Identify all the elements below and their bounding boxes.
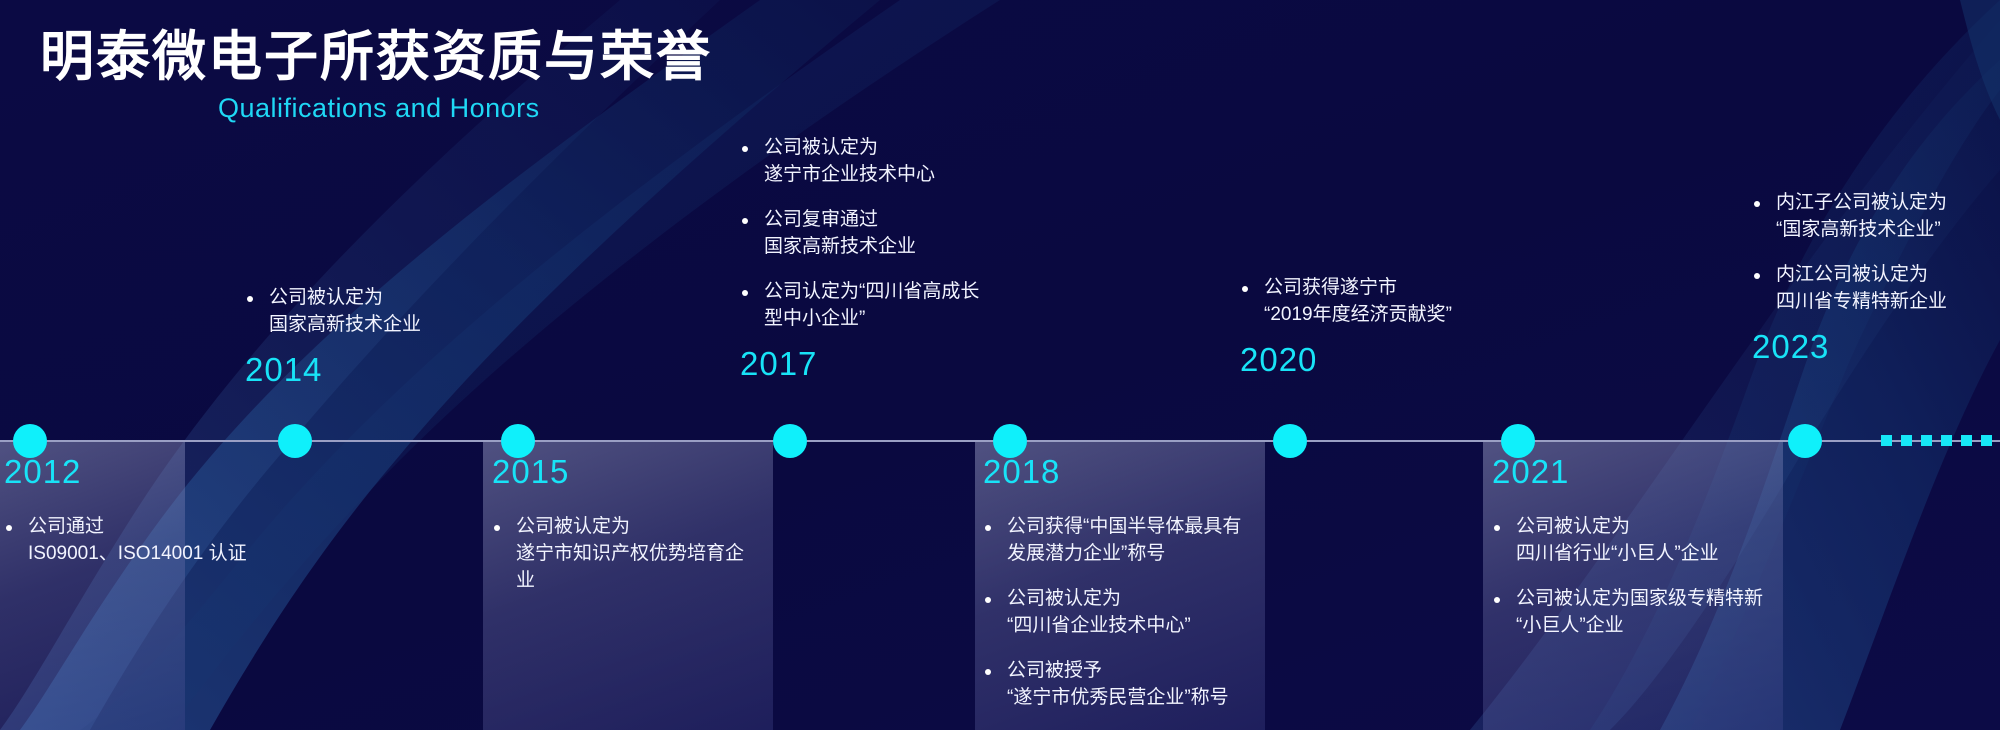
- year-label-2014: 2014: [245, 353, 575, 386]
- timeline-slide: 明泰微电子所获资质与荣誉 Qualifications and Honors 2…: [0, 0, 2000, 730]
- axis-dash: [1921, 435, 1932, 446]
- bullet-list-2014: 公司被认定为 国家高新技术企业: [245, 285, 575, 339]
- bullet-list-2020: 公司获得遂宁市 “2019年度经济贡献奖”: [1240, 275, 1570, 329]
- timeline-entry-2020: 公司获得遂宁市 “2019年度经济贡献奖”2020: [1240, 275, 1570, 376]
- year-label-2023: 2023: [1752, 330, 2000, 363]
- bullet-item: 公司获得“中国半导体最具有 发展潜力企业”称号: [983, 514, 1283, 568]
- year-label-2021: 2021: [1492, 455, 1822, 488]
- timeline-axis-end-dashes: [1881, 435, 1992, 446]
- bullet-item: 公司通过 IS09001、ISO14001 认证: [4, 514, 334, 568]
- timeline-entry-2021: 2021公司被认定为 四川省行业“小巨人”企业公司被认定为国家级专精特新 “小巨…: [1492, 455, 1822, 640]
- timeline-dot-2014[interactable]: [278, 424, 312, 458]
- bullet-list-2023: 内江子公司被认定为 “国家高新技术企业”内江公司被认定为 四川省专精特新企业: [1752, 190, 2000, 316]
- timeline-entry-2012: 2012公司通过 IS09001、ISO14001 认证: [4, 455, 334, 568]
- year-label-2018: 2018: [983, 455, 1283, 488]
- bullet-item: 公司获得遂宁市 “2019年度经济贡献奖”: [1240, 275, 1570, 329]
- bullet-item: 内江子公司被认定为 “国家高新技术企业”: [1752, 190, 2000, 244]
- slide-header: 明泰微电子所获资质与荣誉 Qualifications and Honors: [40, 28, 712, 124]
- timeline-dot-2021[interactable]: [1501, 424, 1535, 458]
- bullet-item: 公司被认定为 “四川省企业技术中心”: [983, 586, 1283, 640]
- bullet-item: 公司被授予 “遂宁市优秀民营企业”称号: [983, 658, 1283, 712]
- bullet-item: 公司被认定为 四川省行业“小巨人”企业: [1492, 514, 1822, 568]
- page-subtitle: Qualifications and Honors: [218, 93, 712, 124]
- bullet-item: 公司被认定为 国家高新技术企业: [245, 285, 575, 339]
- axis-dash: [1881, 435, 1892, 446]
- axis-dash: [1901, 435, 1912, 446]
- bullet-item: 公司被认定为 遂宁市企业技术中心: [740, 135, 1070, 189]
- timeline-dot-2015[interactable]: [501, 424, 535, 458]
- bullet-list-2021: 公司被认定为 四川省行业“小巨人”企业公司被认定为国家级专精特新 “小巨人”企业: [1492, 514, 1822, 640]
- timeline-dot-2023[interactable]: [1788, 424, 1822, 458]
- timeline-dot-2020[interactable]: [1273, 424, 1307, 458]
- bullet-list-2015: 公司被认定为 遂宁市知识产权优势培育企 业: [492, 514, 792, 595]
- bullet-list-2017: 公司被认定为 遂宁市企业技术中心公司复审通过 国家高新技术企业公司认定为“四川省…: [740, 135, 1070, 333]
- axis-dash: [1941, 435, 1952, 446]
- year-label-2020: 2020: [1240, 343, 1570, 376]
- timeline-entry-2017: 公司被认定为 遂宁市企业技术中心公司复审通过 国家高新技术企业公司认定为“四川省…: [740, 135, 1070, 380]
- timeline-dot-2018[interactable]: [993, 424, 1027, 458]
- axis-dash: [1981, 435, 1992, 446]
- page-title: 明泰微电子所获资质与荣誉: [40, 28, 712, 87]
- timeline-entry-2023: 内江子公司被认定为 “国家高新技术企业”内江公司被认定为 四川省专精特新企业20…: [1752, 190, 2000, 363]
- bullet-list-2012: 公司通过 IS09001、ISO14001 认证: [4, 514, 334, 568]
- bullet-item: 公司认定为“四川省高成长 型中小企业”: [740, 279, 1070, 333]
- timeline-dot-2012[interactable]: [13, 424, 47, 458]
- bullet-item: 公司复审通过 国家高新技术企业: [740, 207, 1070, 261]
- bullet-list-2018: 公司获得“中国半导体最具有 发展潜力企业”称号公司被认定为 “四川省企业技术中心…: [983, 514, 1283, 712]
- timeline-entry-2014: 公司被认定为 国家高新技术企业2014: [245, 285, 575, 386]
- bullet-item: 公司被认定为 遂宁市知识产权优势培育企 业: [492, 514, 792, 595]
- year-label-2017: 2017: [740, 347, 1070, 380]
- timeline-dot-2017[interactable]: [773, 424, 807, 458]
- year-label-2012: 2012: [4, 455, 334, 488]
- bullet-item: 内江公司被认定为 四川省专精特新企业: [1752, 262, 2000, 316]
- year-label-2015: 2015: [492, 455, 792, 488]
- axis-dash: [1961, 435, 1972, 446]
- bullet-item: 公司被认定为国家级专精特新 “小巨人”企业: [1492, 586, 1822, 640]
- timeline-entry-2015: 2015公司被认定为 遂宁市知识产权优势培育企 业: [492, 455, 792, 595]
- timeline-entry-2018: 2018公司获得“中国半导体最具有 发展潜力企业”称号公司被认定为 “四川省企业…: [983, 455, 1283, 712]
